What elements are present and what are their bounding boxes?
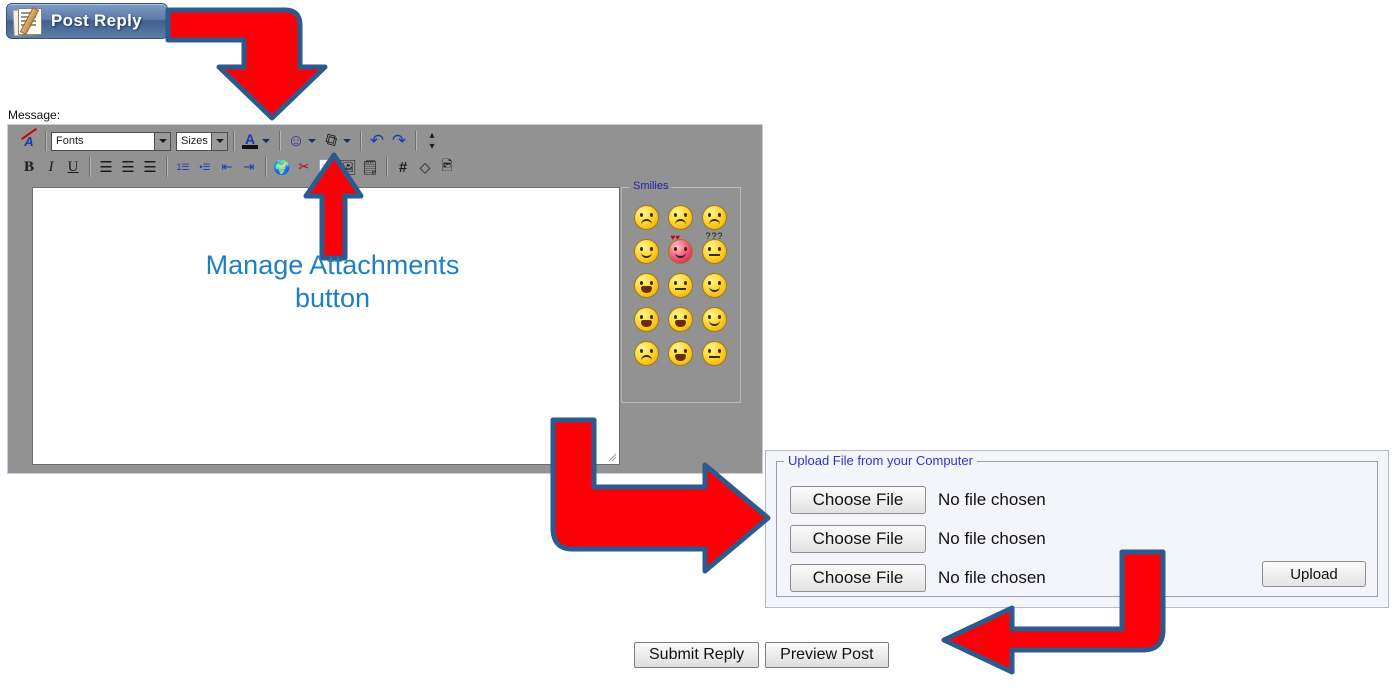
post-reply-label: Post Reply bbox=[51, 11, 142, 31]
smilie-dizzy[interactable] bbox=[697, 336, 731, 370]
file-status-text: No file chosen bbox=[938, 490, 1046, 510]
smilie-roll-eyes[interactable] bbox=[697, 268, 731, 302]
toolbar-separator bbox=[45, 131, 46, 151]
ordered-list-icon[interactable]: 1☰ bbox=[172, 156, 194, 178]
outdent-icon[interactable]: ⇤ bbox=[216, 156, 238, 178]
insert-media-icon[interactable]: 🖻 bbox=[436, 156, 458, 178]
editor-toolbar: A Fonts Sizes A ☺ ⧉ ↶ ↷ ▴▾ bbox=[8, 125, 762, 183]
upload-legend: Upload File from your Computer bbox=[784, 453, 977, 468]
smilie-smile[interactable] bbox=[629, 234, 663, 268]
upload-button[interactable]: Upload bbox=[1262, 561, 1366, 587]
form-action-bar: Submit Reply Preview Post bbox=[634, 641, 889, 669]
attachment-paperclip-icon[interactable]: ⧉ bbox=[318, 128, 345, 155]
toolbar-separator bbox=[89, 157, 90, 177]
font-family-select[interactable]: Fonts bbox=[51, 132, 171, 151]
message-textarea[interactable] bbox=[32, 187, 620, 465]
italic-icon[interactable]: I bbox=[40, 156, 62, 178]
smilie-confused[interactable]: ??? bbox=[697, 234, 731, 268]
redo-icon[interactable]: ↷ bbox=[388, 130, 410, 152]
smilie-embarrassed[interactable] bbox=[629, 200, 663, 234]
toolbar-separator bbox=[386, 157, 387, 177]
remove-link-icon[interactable]: ✂ bbox=[293, 156, 315, 178]
file-upload-row: Choose File No file chosen bbox=[790, 486, 1046, 514]
smilies-grid: ♥♥ ??? bbox=[629, 200, 733, 370]
indent-icon[interactable]: ⇥ bbox=[238, 156, 260, 178]
toolbar-separator bbox=[415, 131, 416, 151]
choose-file-button[interactable]: Choose File bbox=[790, 564, 926, 592]
toolbar-row-1: A Fonts Sizes A ☺ ⧉ ↶ ↷ ▴▾ bbox=[18, 129, 443, 153]
annotation-line-1: Manage Attachments bbox=[150, 252, 515, 279]
insert-html-icon[interactable]: ◇ bbox=[414, 156, 436, 178]
resize-grip-icon[interactable] bbox=[607, 452, 617, 462]
toolbar-separator bbox=[279, 131, 280, 151]
font-family-value: Fonts bbox=[52, 135, 154, 147]
preview-post-button[interactable]: Preview Post bbox=[765, 642, 888, 668]
insert-link-icon[interactable]: 🌍 bbox=[271, 156, 293, 178]
file-status-text: No file chosen bbox=[938, 568, 1046, 588]
smilie-angry[interactable] bbox=[663, 268, 697, 302]
font-size-select[interactable]: Sizes bbox=[176, 132, 228, 151]
insert-image-icon[interactable]: 🖼 bbox=[337, 156, 359, 178]
insert-quote-icon[interactable]: 🗒 bbox=[359, 156, 381, 178]
smilie-big-grin[interactable] bbox=[629, 302, 663, 336]
bold-icon[interactable]: B bbox=[18, 156, 40, 178]
smilies-panel: ♥♥ ??? bbox=[621, 187, 741, 403]
unordered-list-icon[interactable]: •☰ bbox=[194, 156, 216, 178]
align-left-icon[interactable]: ☰ bbox=[95, 156, 117, 178]
insert-code-icon[interactable]: # bbox=[392, 156, 414, 178]
smilie-wink[interactable] bbox=[697, 302, 731, 336]
smilie-cry[interactable] bbox=[629, 336, 663, 370]
submit-reply-button[interactable]: Submit Reply bbox=[634, 642, 759, 668]
smilie-laugh[interactable] bbox=[663, 336, 697, 370]
arrow-to-post-reply-elbow bbox=[168, 10, 325, 118]
font-color-icon[interactable]: A bbox=[239, 130, 261, 152]
choose-file-button[interactable]: Choose File bbox=[790, 486, 926, 514]
smilie-frown[interactable] bbox=[663, 200, 697, 234]
message-label: Message: bbox=[8, 108, 60, 122]
insert-email-icon[interactable]: 📄 bbox=[315, 156, 337, 178]
more-bracket-close: ] bbox=[674, 503, 677, 517]
smilie-mad[interactable] bbox=[697, 200, 731, 234]
choose-file-button[interactable]: Choose File bbox=[790, 525, 926, 553]
smilie-tongue[interactable] bbox=[663, 302, 697, 336]
post-reply-button[interactable]: Post Reply bbox=[6, 3, 168, 39]
smilie-eek[interactable] bbox=[629, 268, 663, 302]
attachment-chevron-down-icon[interactable] bbox=[343, 139, 351, 143]
toolbar-separator bbox=[166, 157, 167, 177]
chevron-down-icon bbox=[154, 133, 170, 150]
align-right-icon[interactable]: ☰ bbox=[139, 156, 161, 178]
smilies-more-link[interactable]: [More] bbox=[643, 503, 677, 517]
chevron-down-icon bbox=[211, 133, 227, 150]
file-status-text: No file chosen bbox=[938, 529, 1046, 549]
smilie-love[interactable]: ♥♥ bbox=[663, 234, 697, 268]
toolbar-separator bbox=[360, 131, 361, 151]
toolbar-separator bbox=[265, 157, 266, 177]
smilies-title: Smilies bbox=[630, 180, 671, 192]
align-center-icon[interactable]: ☰ bbox=[117, 156, 139, 178]
file-upload-row: Choose File No file chosen bbox=[790, 525, 1046, 553]
file-upload-row: Choose File No file chosen bbox=[790, 564, 1046, 592]
font-color-chevron-down-icon[interactable] bbox=[262, 139, 270, 143]
smilie-chevron-down-icon[interactable] bbox=[308, 139, 316, 143]
underline-icon[interactable]: U bbox=[62, 156, 84, 178]
toolbar-separator bbox=[233, 131, 234, 151]
upload-file-panel: Upload File from your Computer Choose Fi… bbox=[765, 450, 1389, 608]
annotation-line-2: button bbox=[150, 285, 515, 312]
smilie-icon[interactable]: ☺ bbox=[285, 130, 307, 152]
more-label: More bbox=[646, 503, 673, 517]
remove-formatting-icon[interactable]: A bbox=[18, 130, 40, 152]
toolbar-row-2: B I U ☰ ☰ ☰ 1☰ •☰ ⇤ ⇥ 🌍 ✂ 📄 🖼 🗒 # ◇ 🖻 bbox=[18, 155, 458, 179]
post-reply-icon bbox=[9, 6, 49, 36]
undo-icon[interactable]: ↶ bbox=[366, 130, 388, 152]
font-size-value: Sizes bbox=[177, 135, 211, 147]
annotation-text: Manage Attachments button bbox=[150, 252, 515, 318]
resize-editor-icon[interactable]: ▴▾ bbox=[421, 130, 443, 152]
